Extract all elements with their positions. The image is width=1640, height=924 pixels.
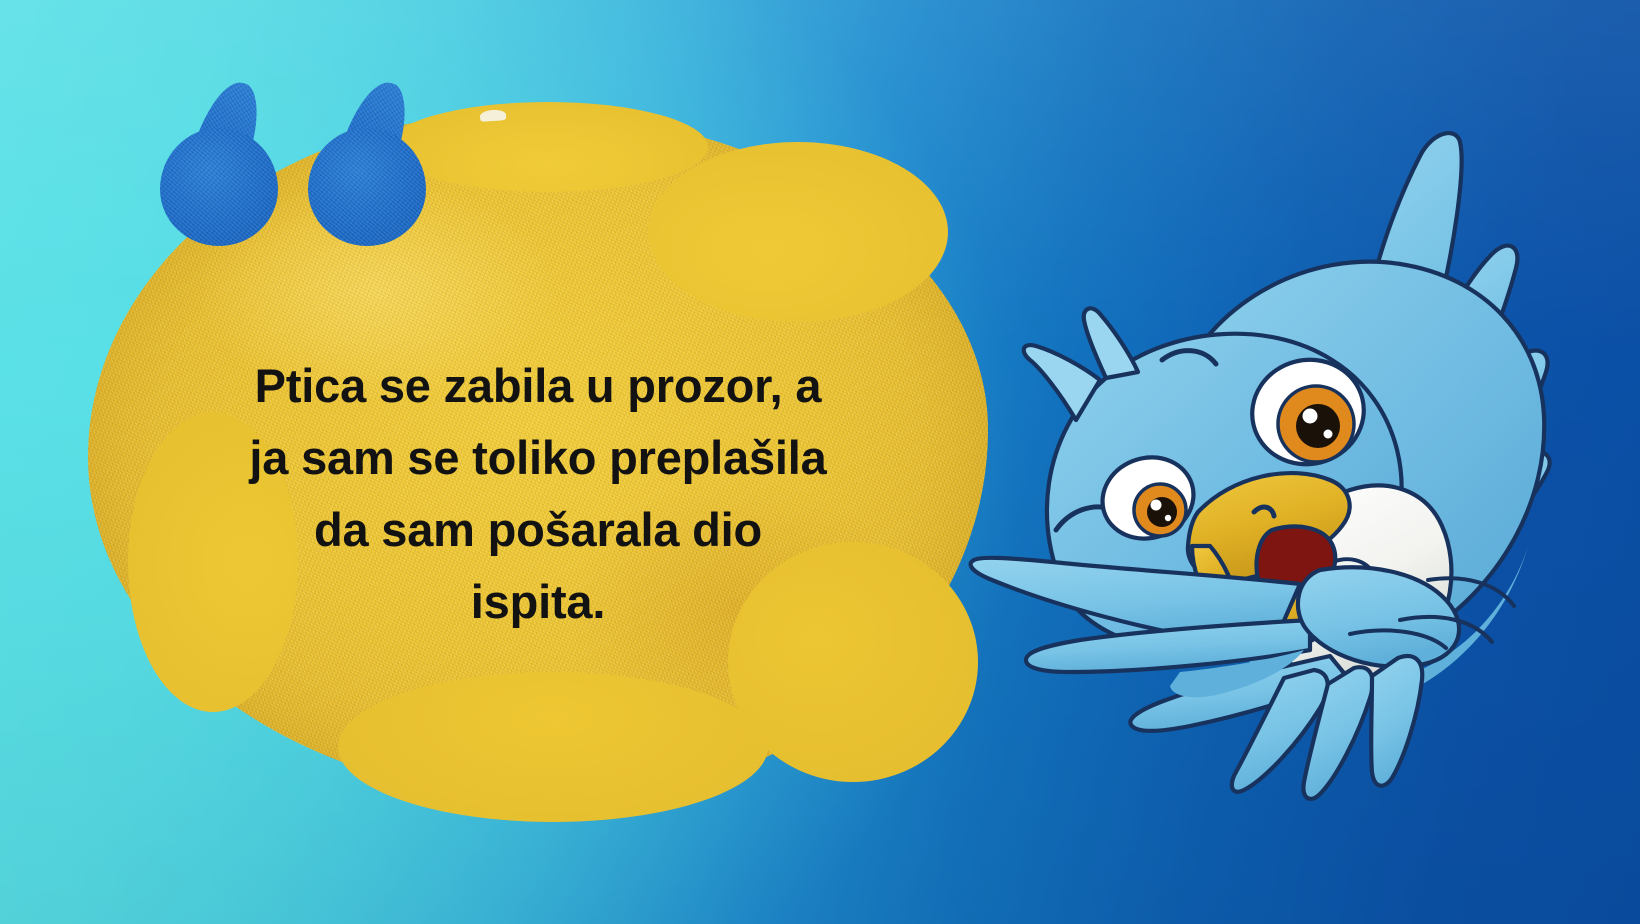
blob-top-notch: [480, 109, 507, 122]
blob-edge-bump-bottom: [338, 672, 768, 822]
quote-glyph-right: [308, 78, 428, 246]
quote-glyph-left: [160, 78, 280, 246]
blob-edge-bump-top: [388, 102, 708, 192]
quote-glyph-left-ball: [160, 128, 278, 246]
quote-card-canvas: Ptica se zabila u prozor, a ja sam se to…: [0, 0, 1640, 924]
quote-text: Ptica se zabila u prozor, a ja sam se to…: [176, 350, 900, 638]
quote-glyph-right-ball: [308, 128, 426, 246]
bluebird-illustration: [880, 60, 1580, 780]
opening-quote-icon: [160, 78, 428, 246]
